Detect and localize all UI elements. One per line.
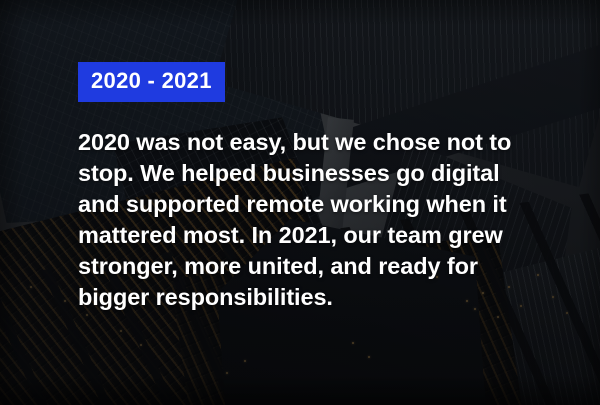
card-content: 2020 - 2021 2020 was not easy, but we ch… <box>78 62 530 313</box>
milestone-card: 2020 - 2021 2020 was not easy, but we ch… <box>0 0 600 405</box>
milestone-description: 2020 was not easy, but we chose not to s… <box>78 127 530 313</box>
year-range-badge: 2020 - 2021 <box>78 62 225 102</box>
